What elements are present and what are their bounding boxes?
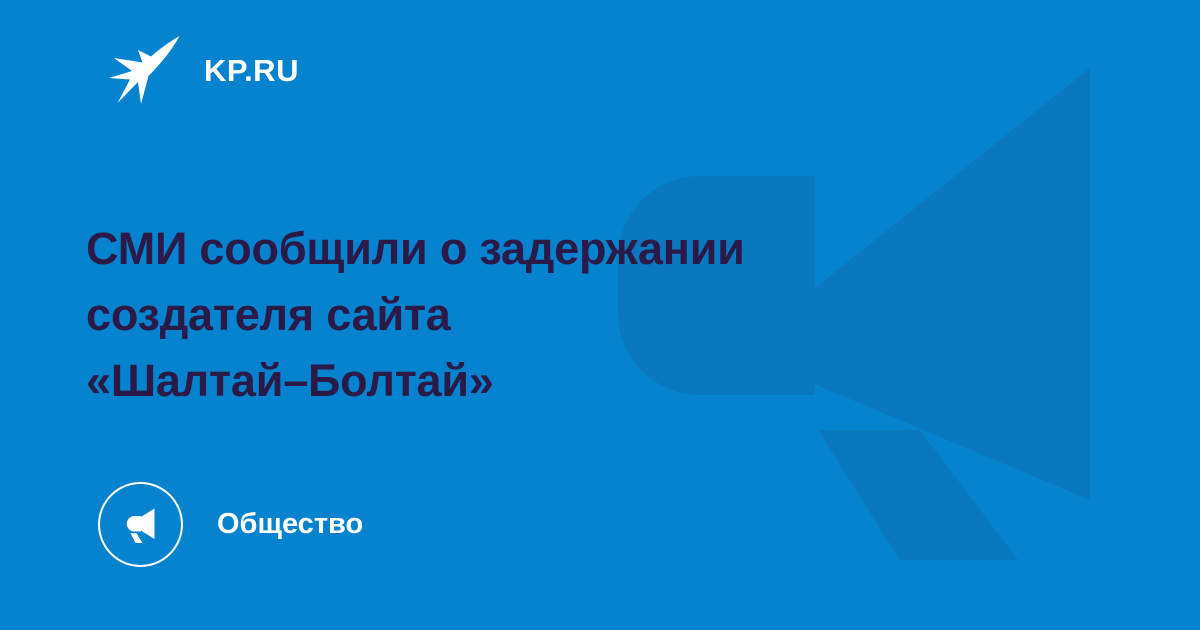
- category-label: Общество: [217, 510, 363, 539]
- brand-logo[interactable]: KP.RU: [108, 34, 299, 106]
- headline-line-3: «Шалтай–Болтай»: [86, 348, 966, 414]
- brand-wordmark: KP.RU: [204, 55, 299, 86]
- category-icon-ring: [98, 482, 183, 567]
- headline: СМИ сообщили о задержании создателя сайт…: [86, 216, 966, 414]
- megaphone-icon: [118, 502, 164, 548]
- headline-line-1: СМИ сообщили о задержании: [86, 216, 966, 282]
- headline-line-2: создателя сайта: [86, 282, 966, 348]
- swallow-bird-icon: [108, 34, 182, 106]
- social-share-card: KP.RU СМИ сообщили о задержании создател…: [0, 0, 1200, 630]
- category-badge[interactable]: Общество: [98, 482, 363, 567]
